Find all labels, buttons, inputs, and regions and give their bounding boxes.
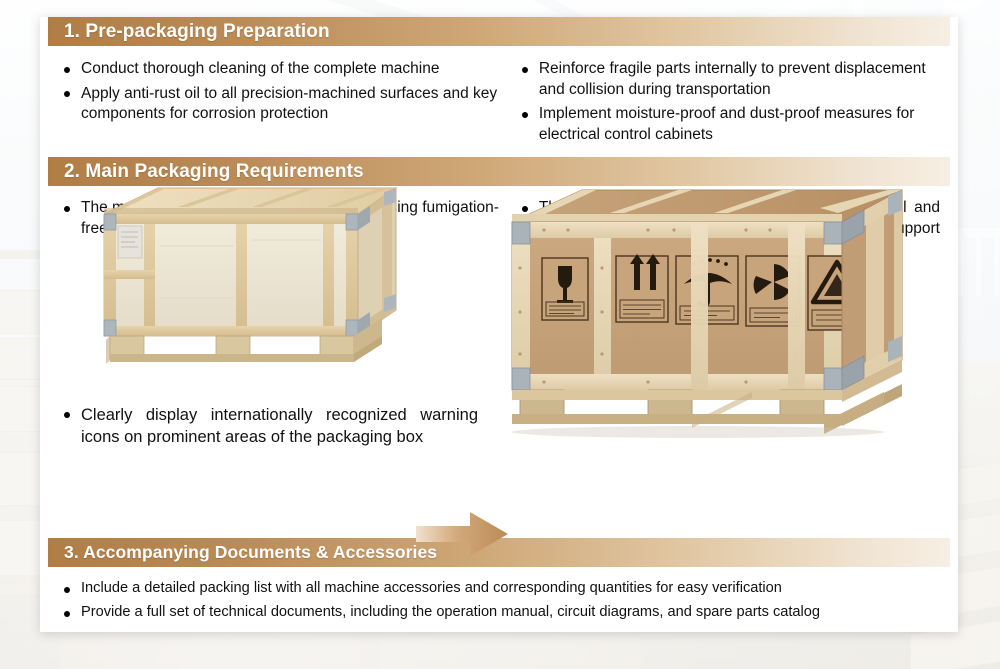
section-1-left-column: Conduct thorough cleaning of the complet… (58, 59, 504, 149)
bullet-item: Conduct thorough cleaning of the complet… (58, 59, 504, 80)
bullet-item: Reinforce fragile parts internally to pr… (516, 59, 940, 100)
section-1-right-column: Reinforce fragile parts internally to pr… (516, 59, 940, 149)
section-pre-packaging: 1. Pre-packaging Preparation Conduct tho… (40, 17, 958, 157)
bullet-item: Apply anti-rust oil to all precision-mac… (58, 84, 504, 125)
section-1-right-bullets: Reinforce fragile parts internally to pr… (516, 59, 940, 145)
rightward-arrow-icon (412, 504, 512, 566)
bullet-item: Implement moisture-proof and dust-proof … (516, 104, 940, 145)
section-3-bullets: Include a detailed packing list with all… (58, 579, 940, 622)
section-2-below-image-bullets: Clearly display internationally recogniz… (58, 404, 478, 452)
labelled-shipping-crate-illustration (498, 182, 918, 438)
section-1-left-bullets: Conduct thorough cleaning of the complet… (58, 59, 504, 125)
this-way-up-icon (616, 254, 668, 322)
plywood-shipping-crate-illustration (86, 174, 416, 374)
bullet-item: Provide a full set of technical document… (58, 603, 940, 622)
section-main-packaging: 2. Main Packaging Requirements The main … (40, 157, 958, 538)
section-1-title: 1. Pre-packaging Preparation (48, 17, 950, 46)
content-card: 1. Pre-packaging Preparation Conduct tho… (40, 17, 958, 632)
bullet-item: Clearly display internationally recogniz… (58, 404, 478, 448)
fragile-glass-icon (542, 258, 588, 320)
bullet-item: Include a detailed packing list with all… (58, 579, 940, 598)
